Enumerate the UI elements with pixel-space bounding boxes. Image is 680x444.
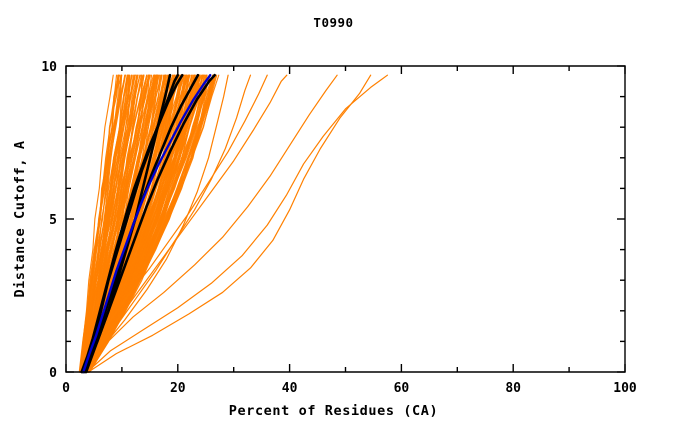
x-tick-label: 100 (613, 381, 637, 396)
x-tick-label: 40 (282, 381, 298, 396)
distance-cutoff-plot: 0204060801000510T0990Percent of Residues… (0, 0, 680, 440)
y-tick-label: 5 (49, 213, 57, 228)
x-axis-label: Percent of Residues (CA) (229, 403, 438, 419)
chart-title: T0990 (313, 15, 353, 30)
y-axis-label: Distance Cutoff, A (12, 140, 28, 297)
y-tick-label: 0 (49, 366, 57, 381)
x-tick-label: 0 (62, 381, 70, 396)
x-tick-label: 60 (394, 381, 410, 396)
y-tick-label: 10 (41, 60, 57, 75)
plot-container: 0204060801000510T0990Percent of Residues… (0, 0, 680, 440)
x-tick-label: 20 (170, 381, 186, 396)
x-tick-label: 80 (505, 381, 521, 396)
